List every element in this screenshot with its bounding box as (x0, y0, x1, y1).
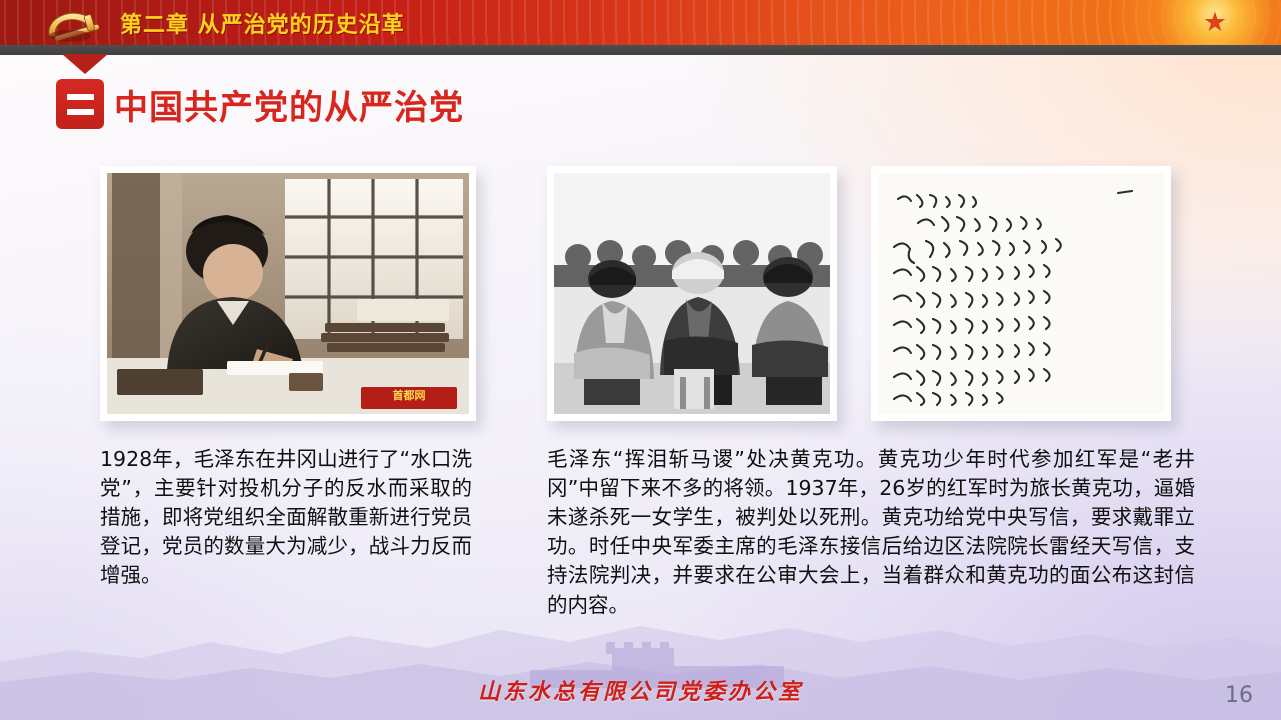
chapter-title: 第二章 从严治党的历史沿革 (120, 0, 405, 45)
mao-writing-photo: 首都网 (107, 173, 469, 414)
handwritten-letter-photo (878, 173, 1164, 414)
right-caption-text: 毛泽东“挥泪斩马谡”处决黄克功。黄克功少年时代参加红军是“老井冈”中留下来不多的… (547, 445, 1195, 620)
page-number: 16 (1225, 683, 1253, 708)
handwritten-letter-photo-frame (871, 166, 1171, 421)
red-army-meeting-photo-frame (547, 166, 837, 421)
star-icon: ★ (1201, 9, 1229, 36)
section-title: 中国共产党的从严治党 (114, 78, 464, 130)
banner-divider (0, 45, 1281, 55)
left-caption-text: 1928年，毛泽东在井冈山进行了“水口洗党”，主要针对投机分子的反水而采取的措施… (100, 445, 472, 591)
badge-stroke-bottom (67, 109, 94, 115)
right-photo-row (547, 166, 1195, 421)
slide-canvas: 第二章 从严治党的历史沿革 ★ 中国共产党的从严治党 (0, 0, 1281, 720)
svg-text:首都网: 首都网 (393, 388, 426, 402)
left-content-column: 首都网 1928年，毛泽东在井冈山进行了“水口洗党”，主要针对投机分子的反水而采… (100, 166, 476, 591)
badge-stroke-top (67, 94, 94, 100)
footer-organization: 山东水总有限公司党委办公室 (0, 674, 1281, 706)
hammer-sickle-emblem-icon (36, 3, 114, 43)
right-content-column: 毛泽东“挥泪斩马谡”处决黄克功。黄克功少年时代参加红军是“老井冈”中留下来不多的… (547, 166, 1195, 620)
mao-writing-photo-frame: 首都网 (100, 166, 476, 421)
triangle-down-icon (62, 54, 108, 74)
section-number-badge (56, 79, 104, 129)
red-army-meeting-photo (554, 173, 830, 414)
chapter-banner: 第二章 从严治党的历史沿革 ★ (0, 0, 1281, 45)
